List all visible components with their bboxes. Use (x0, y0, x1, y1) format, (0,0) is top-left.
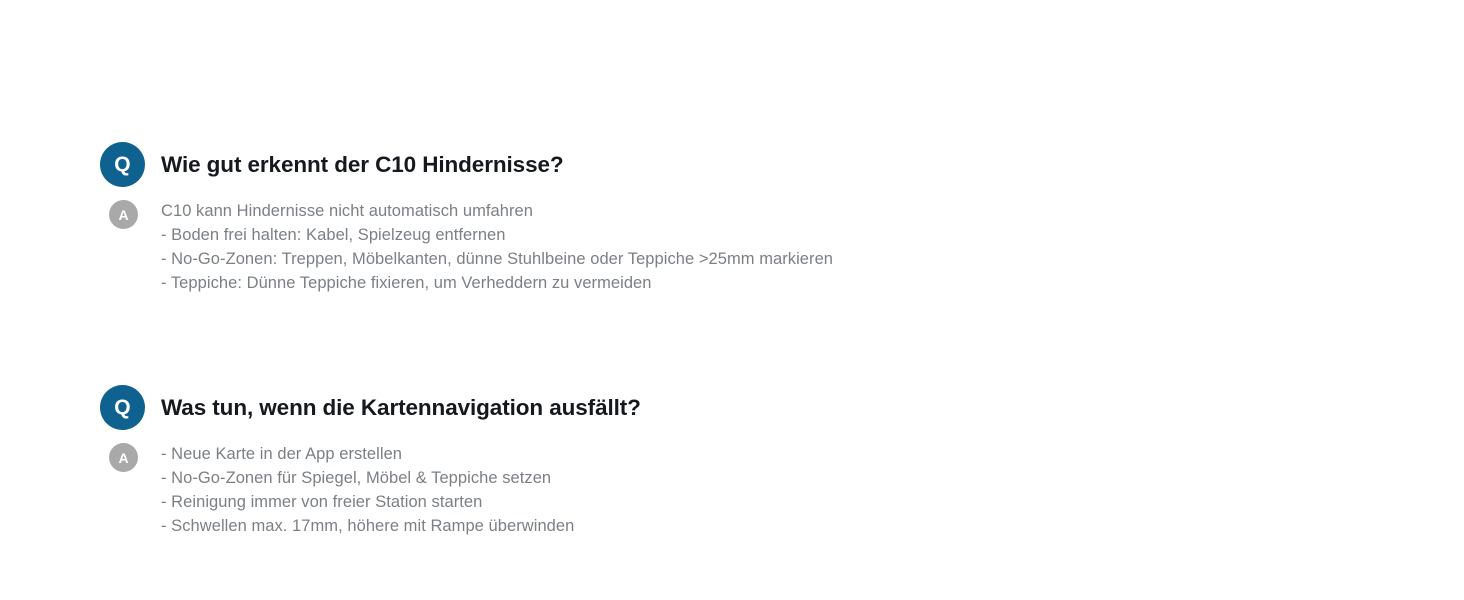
answer-row: A C10 kann Hindernisse nicht automatisch… (100, 199, 1400, 295)
answer-line: - No-Go-Zonen: Treppen, Möbelkanten, dün… (161, 247, 833, 271)
answer-line: - Reinigung immer von freier Station sta… (161, 490, 574, 514)
answer-line: - Teppiche: Dünne Teppiche fixieren, um … (161, 271, 833, 295)
answer-line: C10 kann Hindernisse nicht automatisch u… (161, 199, 833, 223)
question-row[interactable]: Q Was tun, wenn die Kartennavigation aus… (100, 384, 1400, 430)
faq-list: Q Wie gut erkennt der C10 Hindernisse? A… (100, 141, 1400, 538)
answer-line: - No-Go-Zonen für Spiegel, Möbel & Teppi… (161, 466, 574, 490)
answer-body: - Neue Karte in der App erstellen - No-G… (161, 442, 574, 538)
faq-page: Q Wie gut erkennt der C10 Hindernisse? A… (0, 0, 1464, 600)
faq-item: Q Was tun, wenn die Kartennavigation aus… (100, 384, 1400, 538)
question-row[interactable]: Q Wie gut erkennt der C10 Hindernisse? (100, 141, 1400, 187)
question-badge-icon: Q (100, 142, 145, 187)
question-title: Was tun, wenn die Kartennavigation ausfä… (161, 394, 641, 421)
answer-line: - Neue Karte in der App erstellen (161, 442, 574, 466)
answer-badge-icon: A (109, 200, 138, 229)
answer-badge-icon: A (109, 443, 138, 472)
question-badge-icon: Q (100, 385, 145, 430)
answer-row: A - Neue Karte in der App erstellen - No… (100, 442, 1400, 538)
answer-line: - Schwellen max. 17mm, höhere mit Rampe … (161, 514, 574, 538)
question-title: Wie gut erkennt der C10 Hindernisse? (161, 151, 564, 178)
answer-body: C10 kann Hindernisse nicht automatisch u… (161, 199, 833, 295)
answer-line: - Boden frei halten: Kabel, Spielzeug en… (161, 223, 833, 247)
faq-item: Q Wie gut erkennt der C10 Hindernisse? A… (100, 141, 1400, 295)
